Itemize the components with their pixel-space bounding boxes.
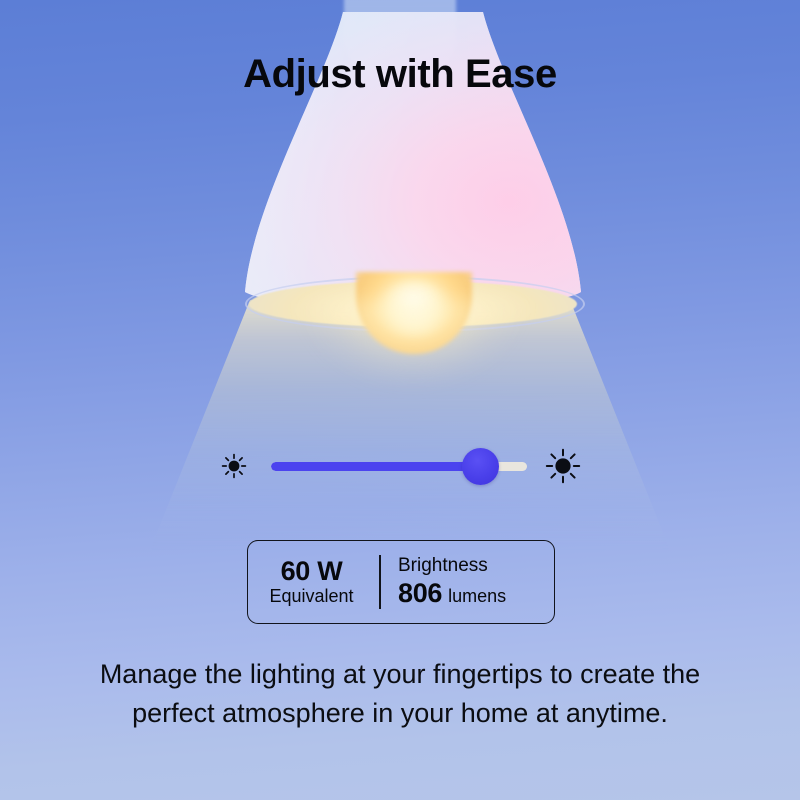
brightness-slider[interactable] — [213, 442, 593, 490]
page-title: Adjust with Ease — [0, 52, 800, 97]
slider-thumb[interactable] — [462, 448, 499, 485]
caption-line-2: perfect atmosphere in your home at anyti… — [60, 694, 740, 733]
caption-line-1: Manage the lighting at your fingertips t… — [60, 655, 740, 694]
spec-card: 60 W Equivalent Brightness 806 lumens — [247, 540, 555, 624]
product-feature-panel: Adjust with Ease — [0, 0, 800, 800]
wattage-value: 60 W — [281, 557, 343, 585]
lamp-shade-rim — [245, 276, 585, 332]
wattage-label: Equivalent — [269, 586, 353, 608]
wattage-section: 60 W Equivalent — [248, 541, 379, 623]
caption-text: Manage the lighting at your fingertips t… — [60, 655, 740, 733]
sun-large-icon — [544, 447, 582, 485]
brightness-value: 806 — [398, 578, 442, 609]
brightness-section: Brightness 806 lumens — [381, 541, 554, 623]
brightness-unit: lumens — [448, 586, 506, 607]
brightness-label: Brightness — [398, 555, 488, 577]
bulb-dome — [356, 272, 472, 354]
bulb-glow — [378, 282, 450, 336]
sun-small-icon — [219, 451, 249, 481]
lamp-shade-opening — [249, 281, 577, 327]
light-cone — [150, 300, 670, 550]
light-hotspot — [298, 300, 528, 450]
slider-fill — [271, 462, 481, 471]
brightness-readout: 806 lumens — [398, 578, 506, 609]
